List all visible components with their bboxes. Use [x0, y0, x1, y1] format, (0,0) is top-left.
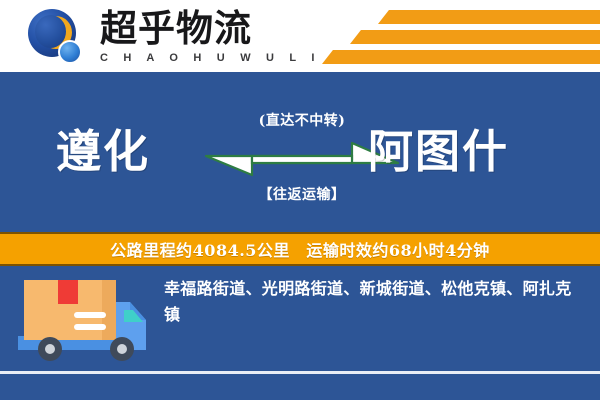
- distance-duration-banner: 公路里程约4084.5公里 运输时效约68小时4分钟: [0, 232, 600, 266]
- road-line-divider: [0, 371, 600, 374]
- direct-service-note: (直达不中转): [228, 110, 376, 130]
- coverage-area-text: 幸福路街道、光明路街道、新城街道、松他克镇、阿扎克镇: [164, 276, 584, 328]
- origin-city-name: 遵化: [56, 126, 150, 178]
- brand-block: 超乎物流 C H A O H U W U L I U: [100, 7, 300, 66]
- stripe-bar-1: [378, 10, 600, 24]
- logistics-route-poster: 超乎物流 C H A O H U W U L I U 遵化 (直达不中转): [0, 0, 600, 400]
- stripe-bar-2: [350, 30, 600, 44]
- distance-duration-text: 公路里程约4084.5公里 运输时效约68小时4分钟: [110, 237, 490, 261]
- delivery-truck-icon: [16, 274, 154, 372]
- stripe-bar-3: [322, 50, 600, 64]
- chaohu-logistics-logo-icon: [26, 8, 88, 66]
- logo-dot-shape: [58, 40, 82, 64]
- brand-name-cn: 超乎物流: [100, 7, 300, 49]
- route-section: 遵化 (直达不中转) 【往返运输】 阿图什: [0, 72, 600, 232]
- orange-speed-stripes-icon: [330, 4, 600, 66]
- brand-name-en: C H A O H U W U L I U: [100, 51, 300, 66]
- destination-city-name: 阿图什: [368, 126, 509, 178]
- route-middle-block: (直达不中转) 【往返运输】: [228, 110, 376, 228]
- coverage-section: 幸福路街道、光明路街道、新城街道、松他克镇、阿扎克镇: [0, 266, 600, 400]
- round-trip-note: 【往返运输】: [228, 184, 376, 204]
- poster-header: 超乎物流 C H A O H U W U L I U: [0, 0, 600, 72]
